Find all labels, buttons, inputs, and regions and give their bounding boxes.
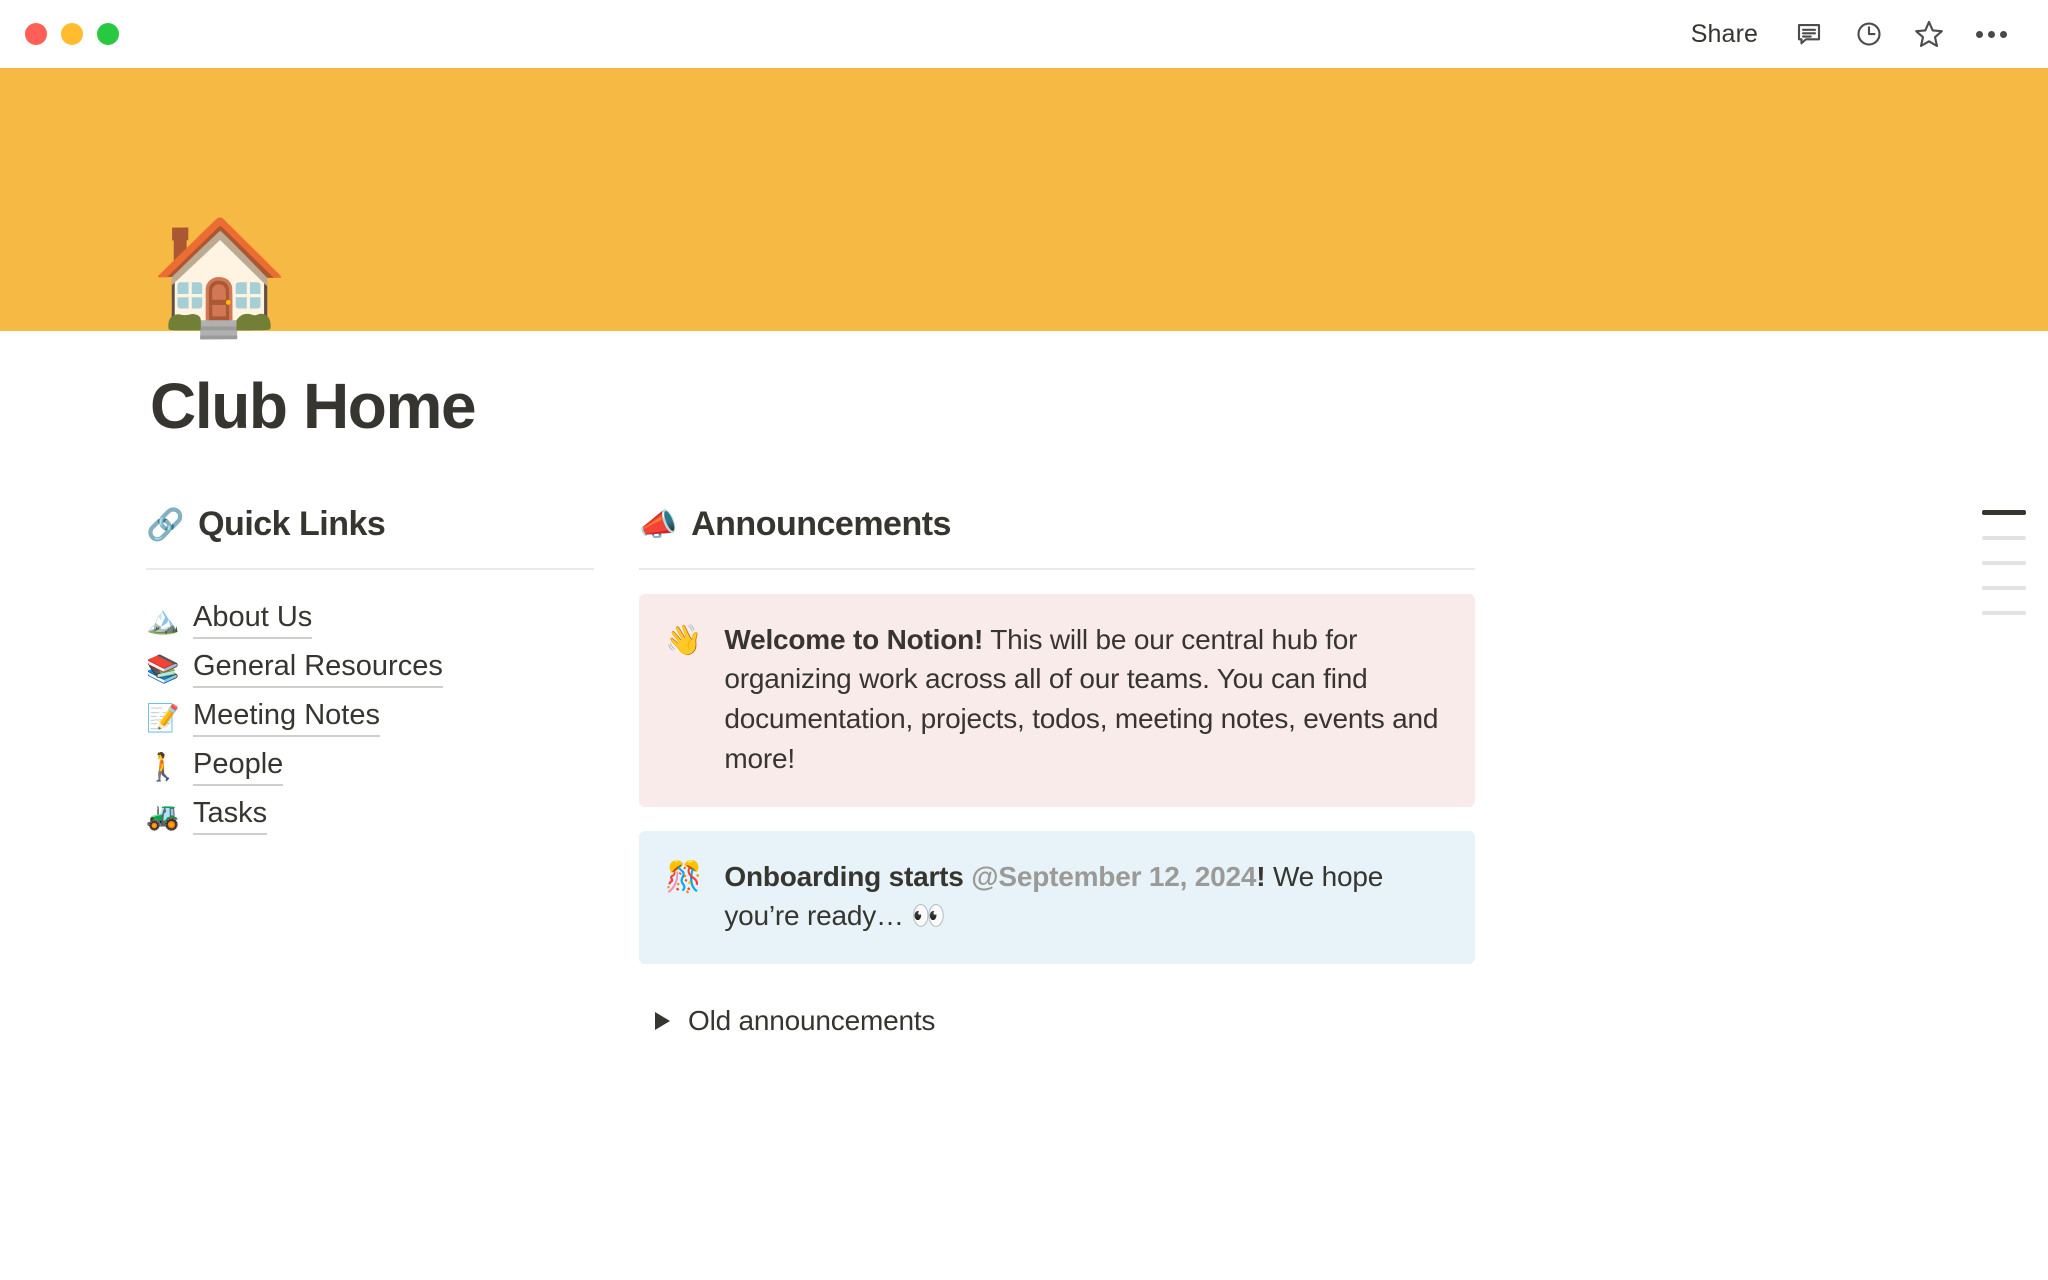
toc-bar[interactable] (1982, 611, 2026, 615)
list-item[interactable]: 🚜 Tasks (146, 792, 594, 841)
date-mention[interactable]: @September 12, 2024 (971, 861, 1256, 892)
table-of-contents-minimap[interactable] (1982, 510, 2026, 615)
toggle-old-announcements-label[interactable]: Old announcements (688, 1005, 935, 1037)
confetti-icon: 🎊 (665, 857, 702, 937)
notion-window: Share (0, 0, 2048, 1280)
quick-links-column: 🔗 Quick Links 🏔️ About Us 📚 General Reso… (146, 503, 594, 841)
history-icon[interactable] (1852, 17, 1886, 51)
callout-welcome-lead: Welcome to Notion! (724, 624, 983, 655)
quick-links-heading: 🔗 Quick Links (146, 503, 594, 550)
toc-bar[interactable] (1982, 561, 2026, 565)
callout-onboarding-text: Onboarding starts @September 12, 2024! W… (724, 857, 1445, 937)
quick-links-list: 🏔️ About Us 📚 General Resources 📝 Meetin… (146, 596, 594, 841)
books-icon: 📚 (146, 656, 180, 683)
quick-link-general-resources[interactable]: General Resources (193, 650, 443, 688)
page-icon[interactable]: 🏠 (150, 221, 289, 333)
toggle-old-announcements[interactable]: Old announcements (639, 998, 1475, 1044)
quick-links-heading-text: Quick Links (198, 503, 385, 546)
more-options-icon[interactable] (1972, 31, 2010, 38)
memo-icon: 📝 (146, 705, 180, 732)
minimize-window-button[interactable] (61, 23, 83, 45)
callout-onboarding-lead: Onboarding starts (724, 861, 963, 892)
toc-bar[interactable] (1982, 536, 2026, 540)
quick-link-meeting-notes[interactable]: Meeting Notes (193, 699, 380, 737)
link-chain-icon: 🔗 (146, 509, 184, 540)
page-title[interactable]: Club Home (150, 371, 475, 443)
announcements-column: 📣 Announcements 👋 Welcome to Notion! Thi… (639, 503, 1475, 1044)
callout-onboarding-tail: ! (1256, 861, 1265, 892)
toc-bar[interactable] (1982, 586, 2026, 590)
callout-welcome[interactable]: 👋 Welcome to Notion! This will be our ce… (639, 594, 1475, 807)
waving-hand-icon: 👋 (665, 620, 702, 779)
announcements-divider (639, 568, 1475, 570)
announcements-heading: 📣 Announcements (639, 503, 1475, 550)
window-titlebar: Share (0, 0, 2048, 68)
callout-welcome-text: Welcome to Notion! This will be our cent… (724, 620, 1445, 779)
person-walking-icon: 🚶 (146, 754, 180, 781)
quick-link-about-us[interactable]: About Us (193, 601, 312, 639)
close-window-button[interactable] (25, 23, 47, 45)
quick-links-divider (146, 568, 594, 570)
page-cover[interactable] (0, 68, 2048, 331)
announcements-heading-text: Announcements (691, 503, 951, 546)
mountain-icon: 🏔️ (146, 607, 180, 634)
quick-link-tasks[interactable]: Tasks (193, 797, 267, 835)
list-item[interactable]: 🚶 People (146, 743, 594, 792)
comment-icon[interactable] (1792, 17, 1826, 51)
favorite-star-icon[interactable] (1912, 17, 1946, 51)
share-button[interactable]: Share (1683, 18, 1766, 51)
list-item[interactable]: 🏔️ About Us (146, 596, 594, 645)
list-item[interactable]: 📝 Meeting Notes (146, 694, 594, 743)
maximize-window-button[interactable] (97, 23, 119, 45)
list-item[interactable]: 📚 General Resources (146, 645, 594, 694)
traffic-light-group (25, 23, 119, 45)
tractor-icon: 🚜 (146, 803, 180, 830)
toc-bar-active[interactable] (1982, 510, 2026, 515)
callout-onboarding[interactable]: 🎊 Onboarding starts @September 12, 2024!… (639, 831, 1475, 965)
quick-link-people[interactable]: People (193, 748, 283, 786)
titlebar-actions: Share (1683, 17, 2010, 51)
content-columns: 🔗 Quick Links 🏔️ About Us 📚 General Reso… (0, 503, 2048, 1044)
collapsed-triangle-icon[interactable] (655, 1012, 670, 1030)
megaphone-icon: 📣 (639, 509, 677, 540)
